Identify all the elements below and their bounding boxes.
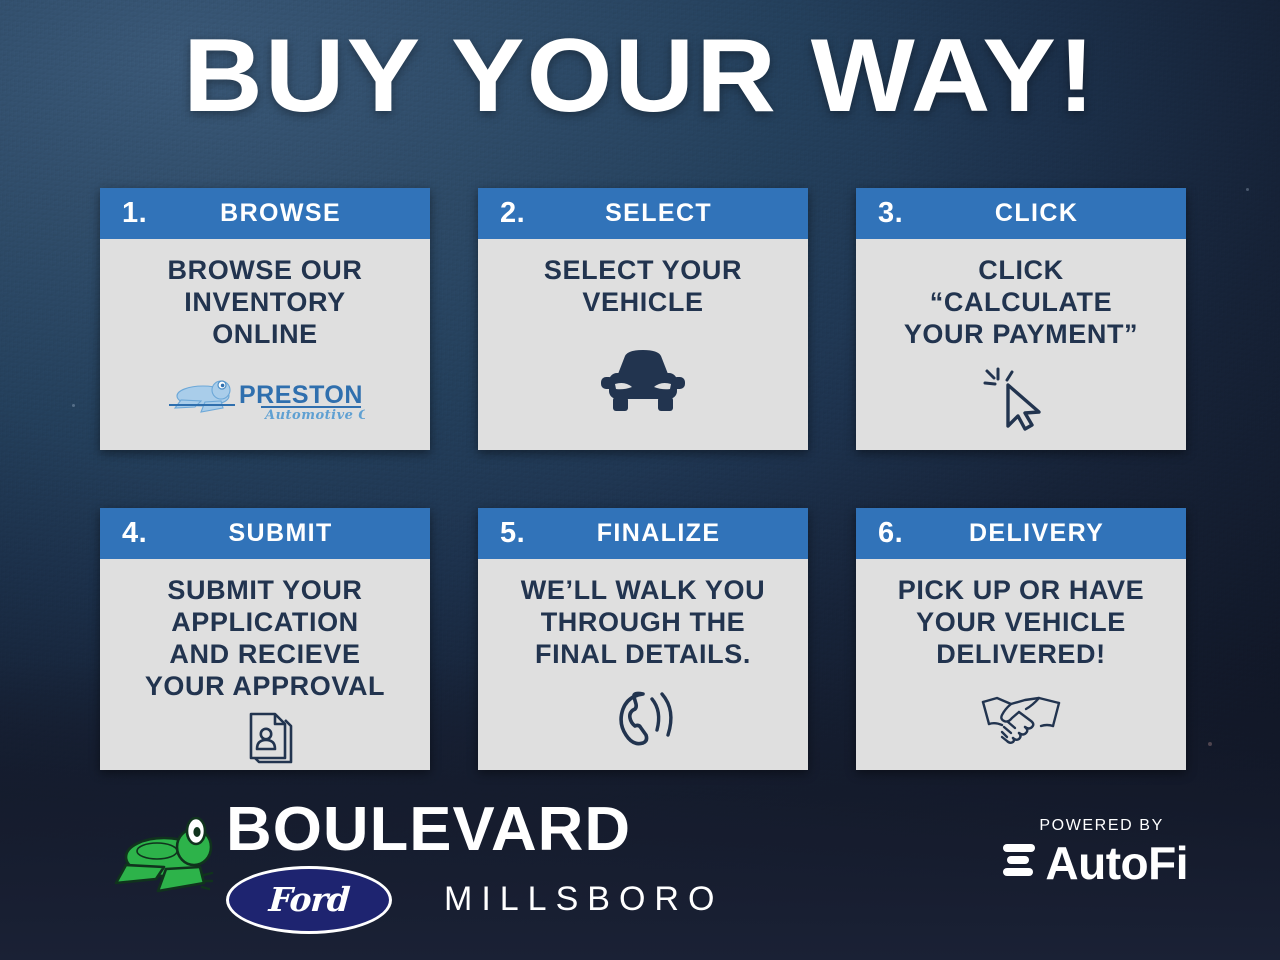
background-speck bbox=[1208, 742, 1212, 746]
step-card-header: 5. FINALIZE bbox=[478, 508, 808, 559]
car-icon bbox=[595, 346, 691, 418]
page-title: BUY YOUR WAY! bbox=[0, 24, 1280, 128]
dealer-location: MILLSBORO bbox=[444, 880, 723, 919]
svg-text:PRESTON: PRESTON bbox=[239, 381, 363, 409]
step-description: PICK UP OR HAVE YOUR VEHICLE DELIVERED! bbox=[898, 575, 1145, 671]
step-number: 2. bbox=[500, 199, 525, 228]
dealer-brand[interactable]: BOULEVARD Ford MILLSBORO bbox=[112, 801, 723, 934]
step-card-header: 2. SELECT bbox=[478, 188, 808, 239]
preston-automotive-group-logo-icon: PRESTON Automotive Group bbox=[165, 374, 365, 422]
footer: BOULEVARD Ford MILLSBORO POWERED BY bbox=[0, 785, 1280, 960]
step-description: SELECT YOUR VEHICLE bbox=[544, 255, 742, 319]
step-card-body: WE’LL WALK YOU THROUGH THE FINAL DETAILS… bbox=[478, 559, 808, 770]
background-speck bbox=[72, 404, 75, 407]
step-number: 4. bbox=[122, 519, 147, 548]
step-card-submit[interactable]: 4. SUBMIT SUBMIT YOUR APPLICATION AND RE… bbox=[100, 508, 430, 770]
powered-by-label: POWERED BY bbox=[1039, 817, 1188, 835]
step-title: DELIVERY bbox=[921, 521, 1186, 546]
step-card-body: SELECT YOUR VEHICLE bbox=[478, 239, 808, 450]
ford-logo: Ford bbox=[226, 866, 392, 934]
step-description: BROWSE OUR INVENTORY ONLINE bbox=[168, 255, 363, 351]
green-frog-logo bbox=[112, 817, 216, 914]
handshake-icon bbox=[975, 689, 1067, 747]
poster-canvas: BUY YOUR WAY! 1. BROWSE BROWSE OUR INVEN… bbox=[0, 0, 1280, 960]
step-card-body: CLICK “CALCULATE YOUR PAYMENT” bbox=[856, 239, 1186, 450]
step-card-select[interactable]: 2. SELECT SELECT YOUR VEHICLE bbox=[478, 188, 808, 450]
step-card-header: 4. SUBMIT bbox=[100, 508, 430, 559]
step-card-delivery[interactable]: 6. DELIVERY PICK UP OR HAVE YOUR VEHICLE… bbox=[856, 508, 1186, 770]
step-card-header: 1. BROWSE bbox=[100, 188, 430, 239]
step-title: SUBMIT bbox=[165, 521, 430, 546]
dealer-name: BOULEVARD bbox=[226, 801, 733, 860]
steps-grid: 1. BROWSE BROWSE OUR INVENTORY ONLINE bbox=[100, 188, 1186, 770]
step-title: BROWSE bbox=[165, 201, 430, 226]
step-card-click[interactable]: 3. CLICK CLICK “CALCULATE YOUR PAYMENT” bbox=[856, 188, 1186, 450]
background-speck bbox=[1246, 188, 1249, 191]
step-description: CLICK “CALCULATE YOUR PAYMENT” bbox=[904, 255, 1138, 351]
step-description: SUBMIT YOUR APPLICATION AND RECIEVE YOUR… bbox=[145, 575, 385, 702]
step-title: FINALIZE bbox=[543, 521, 808, 546]
autofi-bars-icon bbox=[1003, 838, 1037, 887]
step-number: 6. bbox=[878, 519, 903, 548]
step-card-body: BROWSE OUR INVENTORY ONLINE bbox=[100, 239, 430, 450]
step-card-header: 6. DELIVERY bbox=[856, 508, 1186, 559]
ford-wordmark: Ford bbox=[268, 883, 350, 916]
step-description: WE’LL WALK YOU THROUGH THE FINAL DETAILS… bbox=[521, 575, 765, 671]
autofi-wordmark: AutoFi bbox=[1045, 840, 1188, 886]
step-card-body: SUBMIT YOUR APPLICATION AND RECIEVE YOUR… bbox=[100, 559, 430, 770]
step-title: SELECT bbox=[543, 201, 808, 226]
step-card-header: 3. CLICK bbox=[856, 188, 1186, 239]
ringing-phone-icon bbox=[606, 685, 680, 751]
document-person-icon bbox=[233, 706, 297, 766]
step-number: 5. bbox=[500, 519, 525, 548]
svg-text:Automotive Group: Automotive Group bbox=[263, 408, 365, 422]
step-number: 3. bbox=[878, 199, 903, 228]
brand-second-row: Ford MILLSBORO bbox=[226, 866, 723, 934]
autofi-branding[interactable]: POWERED BY AutoFi bbox=[1003, 817, 1188, 887]
step-number: 1. bbox=[122, 199, 147, 228]
cursor-click-icon bbox=[982, 363, 1060, 433]
step-card-body: PICK UP OR HAVE YOUR VEHICLE DELIVERED! bbox=[856, 559, 1186, 770]
dealer-wordmark: BOULEVARD Ford MILLSBORO bbox=[226, 801, 723, 934]
step-card-finalize[interactable]: 5. FINALIZE WE’LL WALK YOU THROUGH THE F… bbox=[478, 508, 808, 770]
step-title: CLICK bbox=[921, 201, 1186, 226]
autofi-logo: AutoFi bbox=[1003, 838, 1188, 887]
frog-icon bbox=[112, 817, 216, 909]
step-card-browse[interactable]: 1. BROWSE BROWSE OUR INVENTORY ONLINE bbox=[100, 188, 430, 450]
preston-logo: PRESTON Automotive Group bbox=[110, 351, 420, 442]
